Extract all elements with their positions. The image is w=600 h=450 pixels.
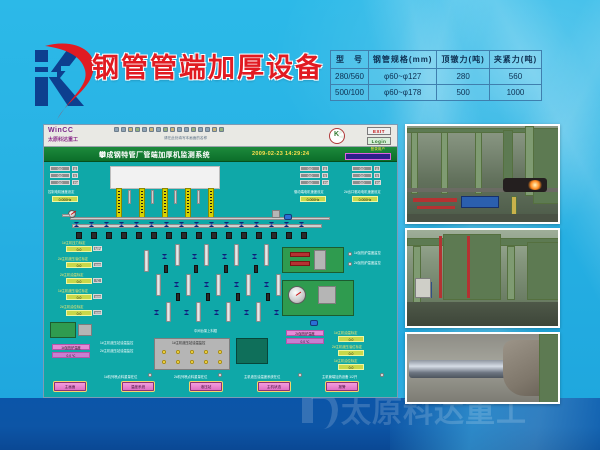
upsetter-ram-1 <box>290 252 310 257</box>
readout-exit-frequency: 0.0 <box>352 180 372 185</box>
print-icon[interactable] <box>135 127 140 132</box>
open-icon[interactable] <box>121 127 126 132</box>
heating-column-1 <box>116 188 122 218</box>
copy-icon[interactable] <box>149 127 154 132</box>
heater-1-label: 1#加热炉温度 <box>52 344 90 350</box>
panel-lamp-3 <box>190 350 194 354</box>
readout-left-frequency: 0.0 <box>50 180 70 185</box>
mid-valve-13 <box>244 310 249 315</box>
page-title: 钢管管端加厚设备 <box>92 46 324 85</box>
checkbox-label-3: 主机液压油温度系统在位 <box>244 374 280 379</box>
red-pipe-1 <box>439 236 442 298</box>
status-lamp-2 <box>348 262 352 266</box>
checkbox-label-2: 2#机列喷点料重量在位 <box>174 374 207 379</box>
cylinder-12 <box>196 302 201 322</box>
hmi-toolbar: WinCC 太原科达重工 请在此处填写本画面的名称 EXIT Login <box>44 125 397 147</box>
unit-exit-current: A <box>374 166 380 171</box>
left-panel-caption: 控制电机速度设定 <box>48 189 74 194</box>
mill-column-1 <box>411 132 418 194</box>
panel-lamp-7 <box>176 360 180 364</box>
heater-1-value: 0.0 ℃ <box>52 352 90 358</box>
right-list-value-3[interactable]: 0.0 <box>338 364 364 370</box>
right-panel-1-setpoint[interactable]: 0.000Hz <box>300 196 326 202</box>
unit-left-current: A <box>72 166 78 171</box>
hmi-mimic-diagram: 0.0 0.0 0.0 A V Hz 控制电机速度设定 0.000Hz 0.0 … <box>44 162 397 398</box>
red-pipe-2 <box>467 236 470 298</box>
checkbox-lamp-1[interactable] <box>148 373 152 377</box>
drive-block-3 <box>106 232 112 239</box>
hot-glow <box>527 180 543 190</box>
left-list-label-1: 1#主机压力标定 <box>62 240 85 245</box>
readout-left-current: 0.0 <box>50 166 70 171</box>
status-item-4: 2#主机液压站油温监控 <box>100 348 133 353</box>
cylinder-5 <box>264 244 269 266</box>
mid-block-1 <box>164 265 168 273</box>
table-row: 280/560 φ60~φ127 280 560 <box>331 69 542 85</box>
new-icon[interactable] <box>114 127 119 132</box>
drive-block-7 <box>166 232 172 239</box>
drive-block-4 <box>121 232 127 239</box>
panel-lamp-2 <box>176 350 180 354</box>
mid-block-8 <box>266 293 270 301</box>
drive-block-2 <box>91 232 97 239</box>
mid-valve-10 <box>154 310 159 315</box>
drive-block-6 <box>151 232 157 239</box>
mill-column-2 <box>441 130 448 194</box>
save-icon[interactable] <box>128 127 133 132</box>
mill-column-3 <box>475 130 482 194</box>
hydraulic-tank <box>318 286 336 304</box>
readout-exit-current: 0.0 <box>352 166 372 171</box>
line-motor-icon <box>284 214 292 220</box>
pipe-mill-line-photo <box>405 124 560 224</box>
left-list-label-3: 2#主机油温标定 <box>60 272 83 277</box>
checkbox-lamp-4[interactable] <box>380 373 384 377</box>
spec-table-header-row: 型 号 钢管规格(mm) 顶镦力(吨) 夹紧力(吨) <box>331 51 542 69</box>
cylinder-6 <box>156 274 161 296</box>
drop-pipe-1 <box>128 190 131 204</box>
spec-cell-size: φ60~φ127 <box>368 69 437 85</box>
shop-column-2 <box>507 246 515 300</box>
furnace-tank <box>110 166 220 189</box>
control-cabinet <box>415 278 431 298</box>
status-lamp-1 <box>348 252 352 256</box>
cylinder-9 <box>246 274 251 296</box>
left-list-label-4: 1#主机液压油位标定 <box>58 288 88 293</box>
spec-cell-model: 280/560 <box>331 69 369 85</box>
run-icon[interactable] <box>205 127 210 132</box>
drive-block-15 <box>286 232 292 239</box>
machine-edge <box>539 334 560 404</box>
drive-block-12 <box>241 232 247 239</box>
hmi-titlebar: 攀成钢特管厂管端加厚机监测系统 2009-02-23 14:29:24 登录用户 <box>44 147 397 162</box>
mid-block-4 <box>254 265 258 273</box>
left-list-value-5[interactable]: 0.0 <box>66 310 92 316</box>
wincc-logo: WinCC <box>48 127 73 134</box>
mid-valve-14 <box>274 310 279 315</box>
mid-valve-6 <box>174 282 179 287</box>
cylinder-4 <box>234 244 239 266</box>
readout-drive-frequency: 0.0 <box>300 180 320 185</box>
left-panel-setpoint[interactable]: 0.000Hz <box>52 196 78 202</box>
right-panel-2-setpoint[interactable]: 0.000Hz <box>352 196 378 202</box>
heater-1-unit-icon <box>50 322 76 338</box>
grid-icon[interactable] <box>184 127 189 132</box>
panel-lamp-10 <box>218 360 222 364</box>
spec-cell-upset: 500 <box>437 85 489 101</box>
hmi-company-label: 太原科达重工 <box>48 136 78 143</box>
drive-block-16 <box>301 232 307 239</box>
aux-panel <box>236 338 268 364</box>
spec-cell-model: 500/100 <box>331 85 369 101</box>
clock-icon <box>329 128 345 144</box>
status-item-3: 1#主机液压站油温监控 <box>100 340 133 345</box>
undo-icon[interactable] <box>163 127 168 132</box>
background-sheen <box>390 398 600 450</box>
cylinder-10 <box>276 274 281 296</box>
heating-column-5 <box>208 188 214 218</box>
mill-floor <box>407 214 560 224</box>
unit-drive-current: A <box>322 166 328 171</box>
drop-pipe-2 <box>151 190 154 204</box>
spec-col-model: 型 号 <box>331 51 369 69</box>
spec-cell-clamp: 1000 <box>489 85 541 101</box>
nav-button-main[interactable]: 主画面 <box>54 382 86 391</box>
heater-2-value: 0.0 ℃ <box>286 338 324 344</box>
mid-valve-4 <box>252 254 257 259</box>
left-list-label-5: 2#主机油位标定 <box>60 304 83 309</box>
page-background-bottom <box>0 398 600 450</box>
nav-button-temp[interactable]: 温度系统 <box>122 382 154 391</box>
right-list-value-2[interactable]: 0.0 <box>338 350 364 356</box>
upsetter-body <box>443 234 501 300</box>
checkbox-label-4: 主机管端加热设备 1/2开 <box>322 374 357 379</box>
left-list-unit-2: mm <box>93 262 102 267</box>
panel-lamp-1 <box>162 350 166 354</box>
nav-button-status[interactable]: 主机状态 <box>258 382 290 391</box>
drop-pipe-3 <box>174 190 177 204</box>
spec-cell-size: φ60~φ178 <box>368 85 437 101</box>
upsetter-frame <box>282 247 344 273</box>
cylinder-11 <box>166 302 171 322</box>
spec-col-size: 钢管规格(mm) <box>368 51 437 69</box>
drive-block-1 <box>76 232 82 239</box>
heater-2-label: 2#加热炉温度 <box>286 330 324 336</box>
drop-pipe-4 <box>197 190 200 204</box>
line-gearbox <box>272 210 280 218</box>
cut-icon[interactable] <box>142 127 147 132</box>
checkbox-lamp-3[interactable] <box>298 373 302 377</box>
left-list-value-2[interactable]: 0.0 <box>66 262 92 268</box>
shop-machine-right <box>527 242 560 300</box>
nav-button-hydraulic[interactable]: 液压站 <box>190 382 222 391</box>
right-panel-2-caption: 2#出口驱动电机速度设定 <box>344 189 381 194</box>
readout-exit-voltage: 0.0 <box>352 173 372 178</box>
right-list-value-1[interactable]: 0.0 <box>338 336 364 342</box>
cylinder-14 <box>256 302 261 322</box>
upsetter-head <box>314 250 326 270</box>
unit-exit-frequency: Hz <box>374 180 381 185</box>
upsetter-ram-2 <box>290 261 310 266</box>
panel-lamp-4 <box>204 350 208 354</box>
spec-cell-clamp: 560 <box>489 69 541 85</box>
mid-block-3 <box>224 265 228 273</box>
align-icon[interactable] <box>191 127 196 132</box>
drive-block-14 <box>271 232 277 239</box>
left-list-unit-5: mm <box>93 310 102 315</box>
left-list-unit-3: ℃ <box>93 278 102 283</box>
checkbox-label-1: 1#机列喷点料重量在位 <box>104 374 137 379</box>
mid-block-6 <box>206 293 210 301</box>
right-panel-1-caption: 驱动端电机速度设定 <box>294 189 324 194</box>
mid-valve-1 <box>162 254 167 259</box>
cylinder-8 <box>216 274 221 296</box>
cylinder-3 <box>204 244 209 266</box>
table-row: 500/100 φ60~φ178 500 1000 <box>331 85 542 101</box>
company-logo-icon <box>27 36 101 120</box>
readout-drive-current: 0.0 <box>300 166 320 171</box>
hmi-screenshot: WinCC 太原科达重工 请在此处填写本画面的名称 EXIT Login 攀成钢… <box>43 124 398 398</box>
cylinder-7 <box>186 274 191 296</box>
hmi-title: 攀成钢特管厂管端加厚机监测系统 <box>99 150 210 160</box>
right-list-label-3: 1#主机油位标定 <box>334 358 357 363</box>
layer-icon[interactable] <box>198 127 203 132</box>
drive-block-13 <box>256 232 262 239</box>
left-list-value-1[interactable]: 0.0 <box>66 246 92 252</box>
panel-lamp-9 <box>204 360 208 364</box>
mill-red-frame-1 <box>413 198 457 202</box>
mid-valve-9 <box>264 282 269 287</box>
unit-drive-voltage: V <box>322 173 328 178</box>
drive-block-10 <box>211 232 217 239</box>
mid-valve-2 <box>192 254 197 259</box>
unit-left-frequency: Hz <box>72 180 79 185</box>
heater-1-control-box <box>78 324 92 336</box>
cylinder-2 <box>175 244 180 266</box>
cylinder-13 <box>226 302 231 322</box>
heating-column-2 <box>139 188 145 218</box>
checkbox-lamp-2[interactable] <box>218 373 222 377</box>
exit-button[interactable]: EXIT <box>367 127 391 135</box>
unit-drive-frequency: Hz <box>322 180 329 185</box>
spec-cell-upset: 280 <box>437 69 489 85</box>
readout-drive-voltage: 0.0 <box>300 173 320 178</box>
unit-left-voltage: V <box>72 173 78 178</box>
hydraulic-gauge-icon <box>288 286 306 304</box>
heating-column-3 <box>162 188 168 218</box>
drive-block-9 <box>196 232 202 239</box>
panel-lamp-5 <box>218 350 222 354</box>
hmi-toolbar-note: 请在此处填写本画面的名称 <box>164 136 207 141</box>
hmi-user-field[interactable] <box>345 153 391 160</box>
mid-block-5 <box>176 293 180 301</box>
mid-block-2 <box>194 265 198 273</box>
hydraulic-pump-motor <box>310 320 318 326</box>
drive-block-11 <box>226 232 232 239</box>
hmi-toolbar-icons[interactable] <box>114 127 224 132</box>
inlet-pipe <box>62 214 70 217</box>
mid-valve-3 <box>222 254 227 259</box>
left-list-value-3[interactable]: 0.0 <box>66 278 92 284</box>
upsetting-machine-photo <box>405 228 560 328</box>
cylinder-1 <box>144 250 149 272</box>
right-list-label-2: 2#主机液压油位标定 <box>332 344 362 349</box>
status-item-2: 2#加热炉温度监控 <box>354 260 381 265</box>
heating-column-4 <box>185 188 191 218</box>
shop-floor <box>407 302 560 328</box>
drive-block-8 <box>181 232 187 239</box>
mid-valve-7 <box>204 282 209 287</box>
left-list-label-2: 2#主机液压油位标定 <box>58 256 88 261</box>
left-list-unit-4: mm <box>93 294 102 299</box>
zoom-icon[interactable] <box>177 127 182 132</box>
spec-col-clamp: 夹紧力(吨) <box>489 51 541 69</box>
unit-exit-voltage: V <box>374 173 380 178</box>
mill-drive-unit <box>461 196 499 208</box>
panel-lamp-6 <box>162 360 166 364</box>
mid-valve-8 <box>234 282 239 287</box>
paste-icon[interactable] <box>156 127 161 132</box>
hmi-datetime: 2009-02-23 14:29:24 <box>252 151 309 157</box>
mill-red-frame-2 <box>417 206 455 209</box>
left-list-value-4[interactable]: 0.0 <box>66 294 92 300</box>
redo-icon[interactable] <box>170 127 175 132</box>
login-button[interactable]: Login <box>367 137 391 145</box>
help-icon[interactable] <box>219 127 224 132</box>
left-list-unit-1: MPa <box>93 246 102 251</box>
mid-block-7 <box>236 293 240 301</box>
mill-housing <box>533 128 560 204</box>
spec-col-upset: 顶镦力(吨) <box>437 51 489 69</box>
right-list-label-1: 1#主机油温标定 <box>334 330 357 335</box>
readout-left-voltage: 0.0 <box>50 173 70 178</box>
nav-button-alarm[interactable]: 报警 <box>326 382 358 391</box>
panel-lamp-8 <box>190 360 194 364</box>
spec-table: 型 号 钢管规格(mm) 顶镦力(吨) 夹紧力(吨) 280/560 φ60~φ… <box>330 50 542 101</box>
drive-block-5 <box>136 232 142 239</box>
hmi-user-label: 登录用户 <box>371 147 385 152</box>
lamp-panel-title: 1#主机液压站油温监控 <box>172 340 205 345</box>
status-item-1: 1#加热炉温度监控 <box>354 250 381 255</box>
upset-pipe-end-photo <box>405 332 560 404</box>
mid-valve-11 <box>184 310 189 315</box>
stop-icon[interactable] <box>212 127 217 132</box>
hmi-footer <box>44 395 397 398</box>
mid-valve-12 <box>214 310 219 315</box>
center-rollers-label: 中间台架上料辊 <box>194 328 217 333</box>
